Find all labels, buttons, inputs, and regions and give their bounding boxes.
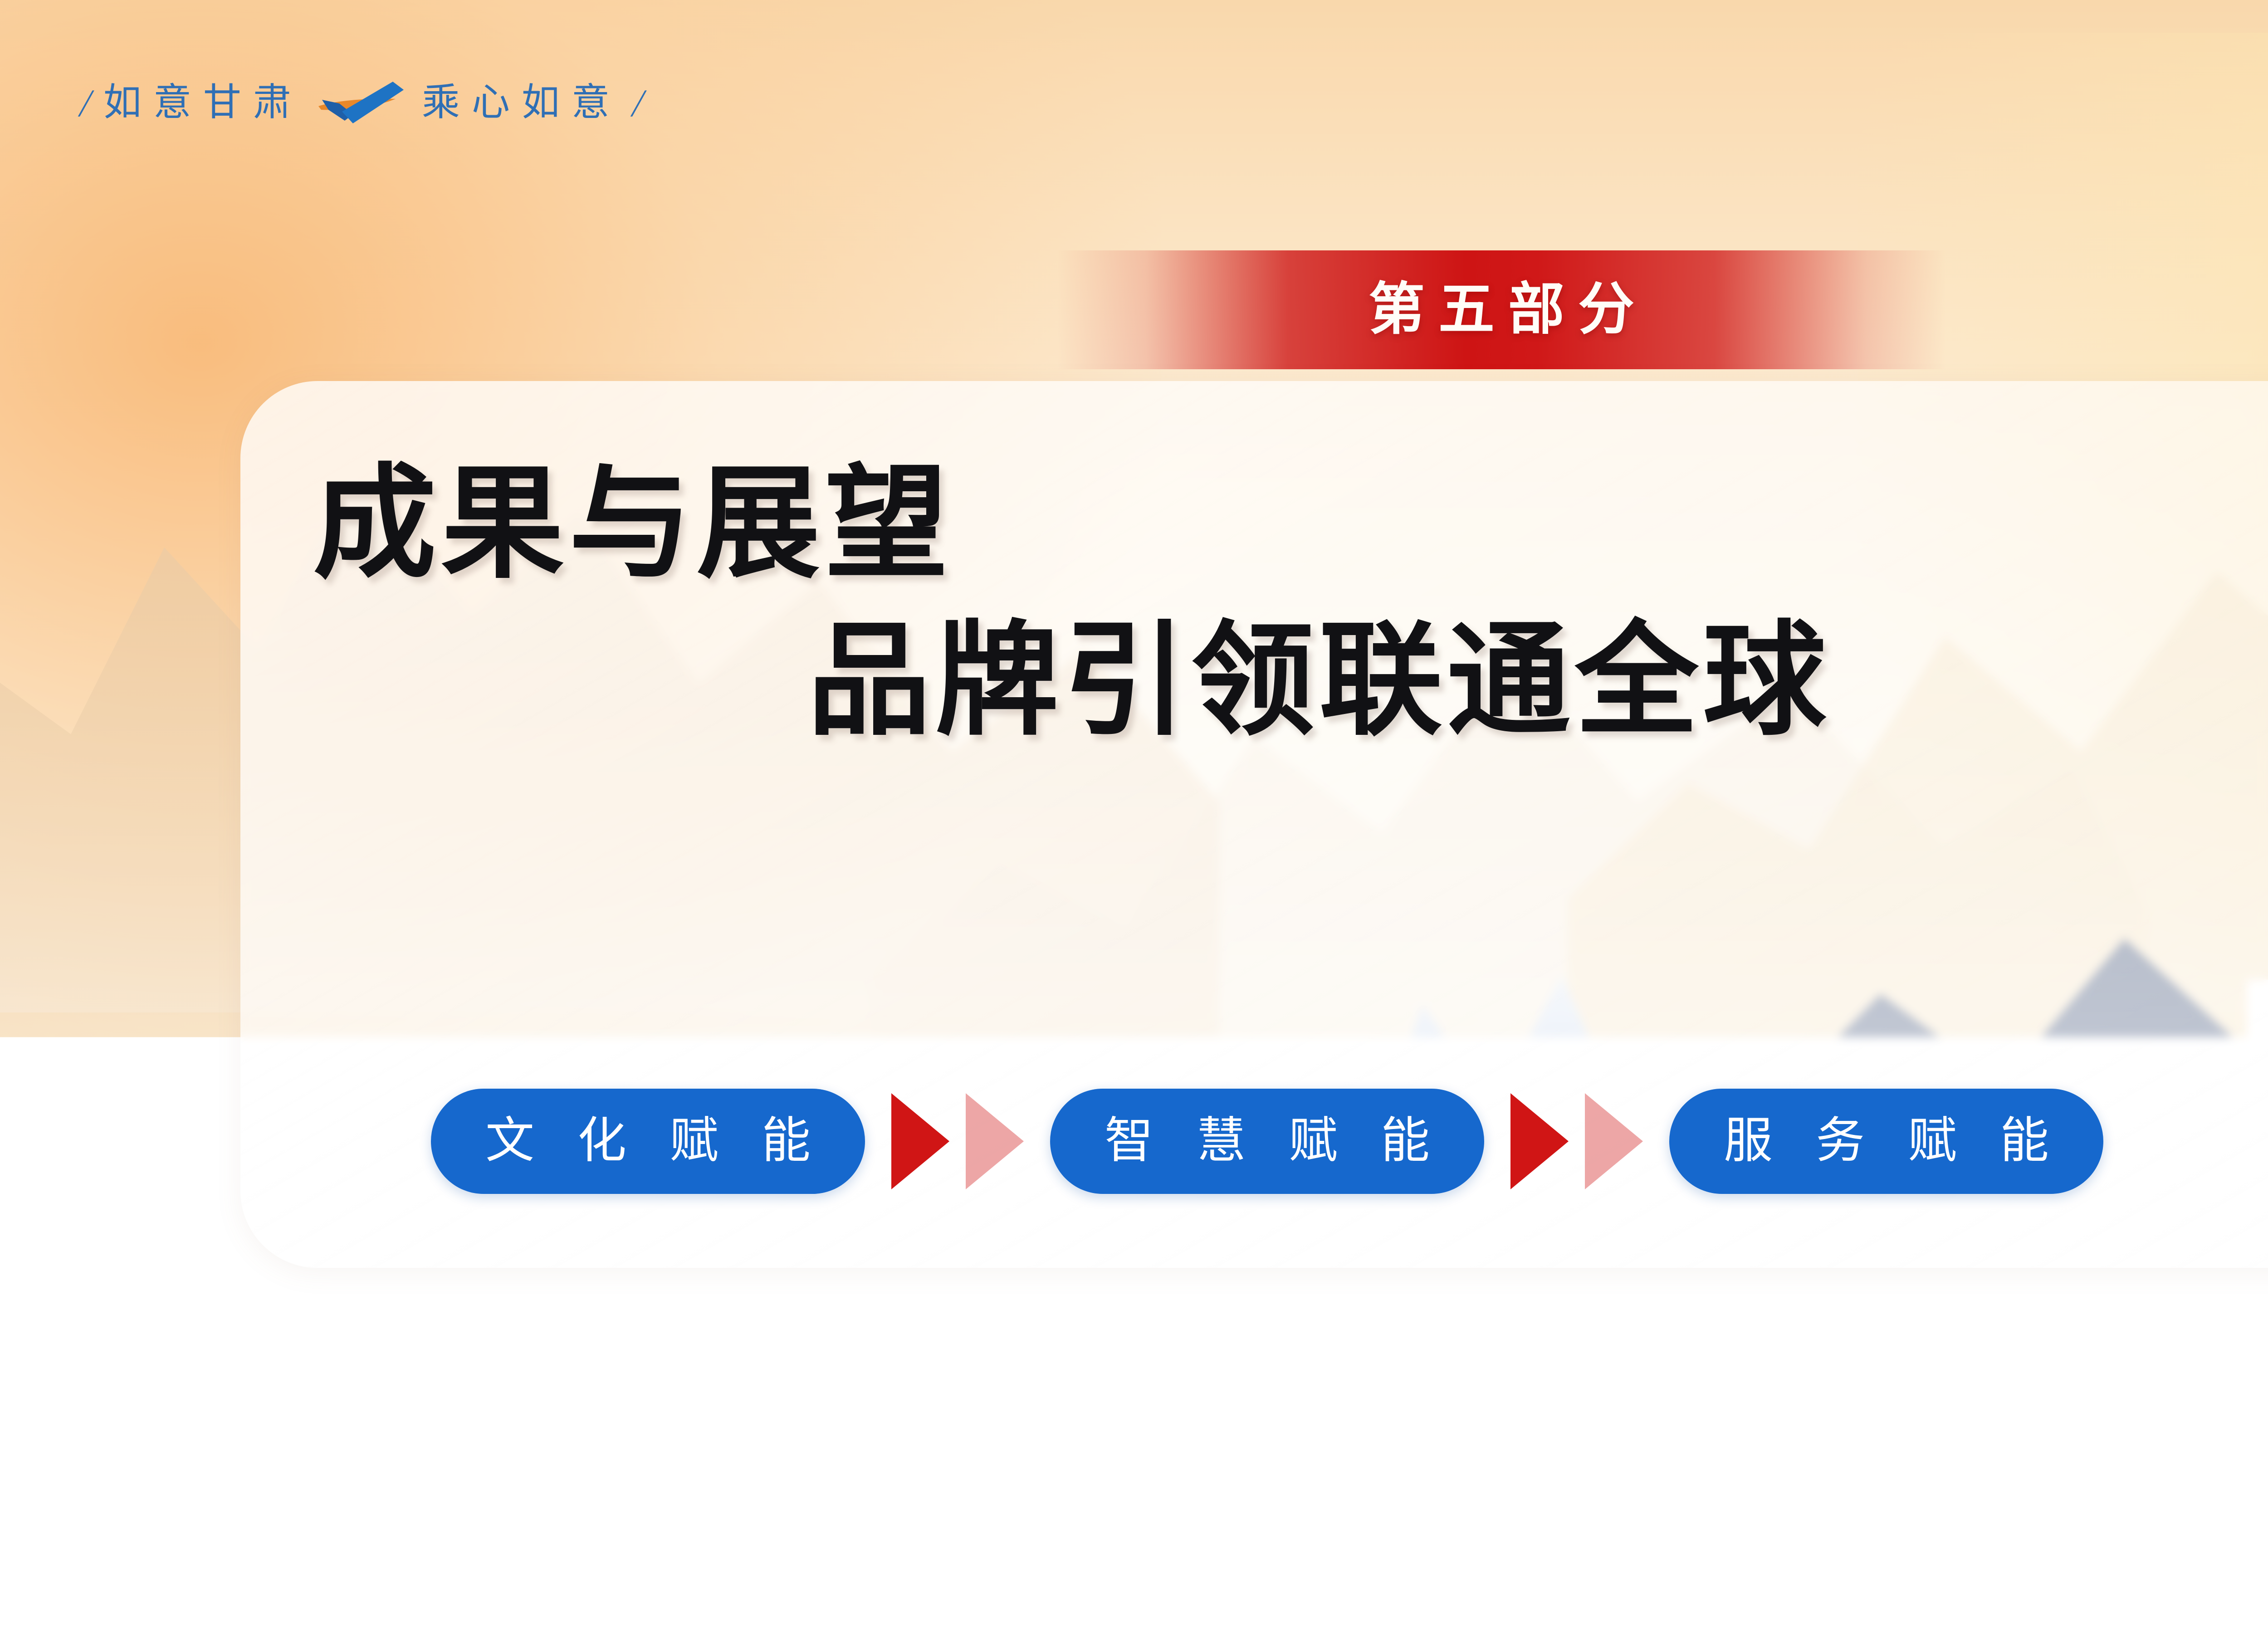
pipeline-arrows-1 [891,1093,1024,1189]
pipeline-step-3[interactable]: 服 务 赋 能 [1669,1089,2103,1194]
section-banner: 第五部分 [1057,250,1946,369]
section-banner-label: 第五部分 [1355,282,1648,338]
pipeline-step-3-label: 服 务 赋 能 [1708,1117,2064,1166]
triangle-right-icon [891,1093,949,1189]
ruyi-gansu-checkmark-logo-icon [315,78,410,128]
pipeline-step-1-label: 文 化 赋 能 [470,1117,826,1166]
pipeline-arrows-2 [1510,1093,1643,1189]
page-title: 成果与展望 品牌引领联通全球 [295,458,2268,748]
triangle-right-icon [1585,1093,1643,1189]
brand-text-right: 乘心如意 [422,84,621,122]
pipeline-step-1[interactable]: 文 化 赋 能 [431,1089,865,1194]
triangle-right-icon [966,1093,1024,1189]
headline-line-1: 成果与展望 [313,458,2268,592]
slide-canvas: / 如意甘肃 乘心如意 / 第五部分 成果与展望 品牌引领联通全球 文 化 赋 … [0,0,2268,1633]
brand-lockup: / 如意甘肃 乘心如意 / [81,78,644,128]
brand-text-left: 如意甘肃 [103,84,303,122]
pipeline-row: 文 化 赋 能 智 慧 赋 能 服 务 赋 能 [431,1089,2103,1194]
pipeline-step-2-label: 智 慧 赋 能 [1089,1117,1445,1166]
headline-line-2: 品牌引领联通全球 [807,615,2268,748]
pipeline-step-2[interactable]: 智 慧 赋 能 [1050,1089,1484,1194]
triangle-right-icon [1510,1093,1569,1189]
